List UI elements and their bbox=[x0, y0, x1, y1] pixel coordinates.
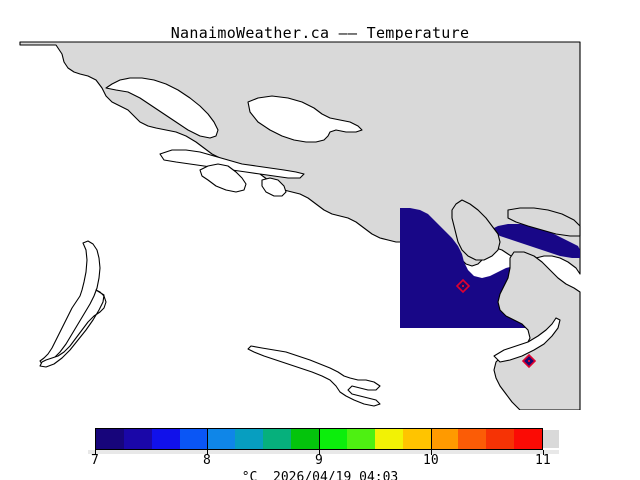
colorbar-segment-8 bbox=[319, 429, 347, 449]
colorbar-segment-4 bbox=[208, 429, 236, 449]
colorbar-divider-10 bbox=[431, 428, 432, 450]
map-plot[interactable] bbox=[0, 40, 640, 410]
colorbar-label-7: 7 bbox=[91, 453, 99, 468]
colorbar-label-9: 9 bbox=[315, 453, 323, 468]
weather-map-page: NanaimoWeather.ca —— Temperature bbox=[0, 0, 640, 480]
colorbar-segment-6 bbox=[263, 429, 291, 449]
station-marker-south-center bbox=[528, 360, 530, 362]
colorbar-caption: °C 2026/04/19 04:03 bbox=[0, 470, 640, 480]
colorbar-segment-2 bbox=[152, 429, 180, 449]
colorbar-segment-10 bbox=[375, 429, 403, 449]
colorbar: 7 8 9 10 11 °C 2026/04/19 04:03 bbox=[0, 420, 640, 480]
colorbar-label-10: 10 bbox=[423, 453, 439, 468]
colorbar-segment-7 bbox=[291, 429, 319, 449]
colorbar-segment-11 bbox=[403, 429, 431, 449]
colorbar-baseline bbox=[88, 450, 559, 454]
colorbar-segment-9 bbox=[347, 429, 375, 449]
colorbar-segment-12 bbox=[431, 429, 459, 449]
colorbar-overflow-swatch bbox=[543, 430, 559, 448]
colorbar-segment-13 bbox=[458, 429, 486, 449]
colorbar-segment-14 bbox=[486, 429, 514, 449]
colorbar-segment-0 bbox=[96, 429, 124, 449]
station-marker-nanaimo-center bbox=[462, 285, 464, 287]
map-svg bbox=[0, 40, 640, 410]
colorbar-segment-1 bbox=[124, 429, 152, 449]
colorbar-label-11: 11 bbox=[535, 453, 551, 468]
colorbar-label-8: 8 bbox=[203, 453, 211, 468]
colorbar-segment-5 bbox=[235, 429, 263, 449]
colorbar-divider-8 bbox=[207, 428, 208, 450]
colorbar-divider-9 bbox=[319, 428, 320, 450]
colorbar-segment-15 bbox=[514, 429, 542, 449]
colorbar-segment-3 bbox=[180, 429, 208, 449]
